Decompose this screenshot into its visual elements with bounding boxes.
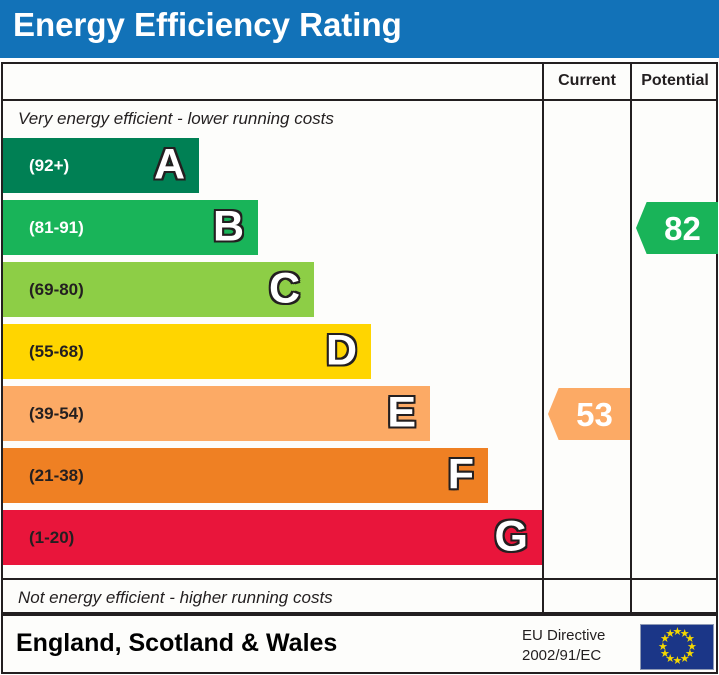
eu-directive-label: EU Directive 2002/91/EC — [522, 626, 605, 667]
potential-rating-marker: 82 — [636, 202, 718, 254]
band-range-f: (21-38) — [29, 466, 84, 486]
band-range-g: (1-20) — [29, 528, 74, 548]
eu-directive-line2: 2002/91/EC — [522, 646, 605, 666]
rating-band-d: (55-68)D — [3, 324, 371, 379]
footer-divider — [3, 578, 716, 580]
band-letter-b: B — [213, 205, 244, 248]
rating-band-f: (21-38)F — [3, 448, 488, 503]
band-range-e: (39-54) — [29, 404, 84, 424]
band-range-b: (81-91) — [29, 218, 84, 238]
caption-inefficient: Not energy efficient - higher running co… — [18, 588, 333, 608]
current-column-header: Current — [544, 72, 630, 90]
band-letter-g: G — [495, 515, 528, 558]
rating-bands: (92+)A(81-91)B(69-80)C(55-68)D(39-54)E(2… — [3, 138, 542, 575]
band-range-c: (69-80) — [29, 280, 84, 300]
page-title: Energy Efficiency Rating — [13, 6, 402, 44]
header-divider — [3, 99, 716, 101]
rating-band-c: (69-80)C — [3, 262, 314, 317]
rating-band-g: (1-20)G — [3, 510, 542, 565]
potential-column-header: Potential — [632, 72, 718, 90]
energy-efficiency-certificate: Energy Efficiency Rating Current Potenti… — [0, 0, 719, 675]
eu-flag-icon: ★★★★★★★★★★★★ — [640, 624, 714, 670]
current-rating-marker: 53 — [548, 388, 630, 440]
region-label: England, Scotland & Wales — [16, 629, 337, 658]
potential-column-divider — [630, 64, 632, 612]
band-letter-d: D — [326, 329, 357, 372]
title-bar: Energy Efficiency Rating — [0, 0, 719, 58]
band-letter-c: C — [269, 267, 300, 310]
current-rating-value: 53 — [565, 398, 613, 431]
band-letter-f: F — [448, 453, 474, 496]
band-range-d: (55-68) — [29, 342, 84, 362]
rating-band-a: (92+)A — [3, 138, 199, 193]
certificate-footer: England, Scotland & Wales EU Directive 2… — [1, 614, 718, 674]
current-column-divider — [542, 64, 544, 612]
eu-directive-line1: EU Directive — [522, 626, 605, 646]
potential-rating-value: 82 — [653, 212, 701, 245]
band-letter-e: E — [387, 391, 416, 434]
rating-chart-frame: Current Potential Very energy efficient … — [1, 62, 718, 614]
caption-efficient: Very energy efficient - lower running co… — [18, 109, 334, 129]
eu-star-icon: ★ — [665, 630, 674, 639]
band-letter-a: A — [154, 143, 185, 186]
rating-band-b: (81-91)B — [3, 200, 258, 255]
band-range-a: (92+) — [29, 156, 69, 176]
rating-band-e: (39-54)E — [3, 386, 430, 441]
